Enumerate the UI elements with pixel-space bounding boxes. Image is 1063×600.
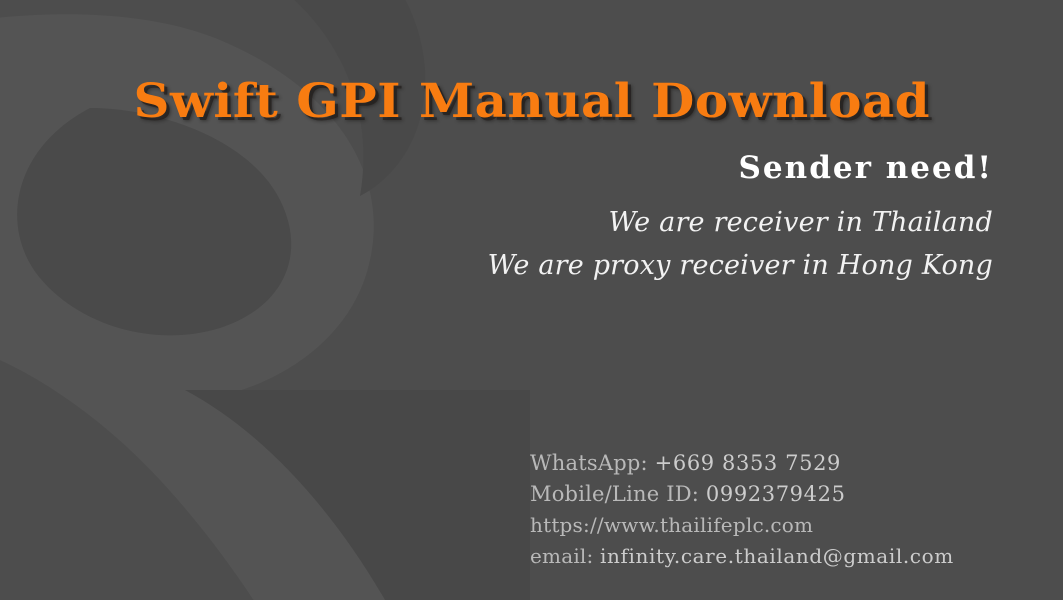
- subtitle: Sender need!: [273, 152, 993, 185]
- contact-line-website[interactable]: https://www.thailifeplc.com: [530, 510, 954, 541]
- whatsapp-number[interactable]: +669 8353 7529: [655, 451, 841, 475]
- mobile-line-id-label: Mobile/Line ID:: [530, 482, 699, 506]
- contact-block: WhatsApp: +669 8353 7529 Mobile/Line ID:…: [530, 448, 954, 572]
- page-title: Swift GPI Manual Download: [133, 78, 930, 125]
- watermark-leg-shape: [185, 390, 530, 600]
- script-lines: We are receiver in Thailand We are proxy…: [273, 201, 993, 287]
- watermark-counter-shape: [17, 108, 291, 335]
- headline-block: Sender need! We are receiver in Thailand…: [273, 152, 993, 287]
- contact-line-mobile-line-id: Mobile/Line ID: 0992379425: [530, 479, 954, 510]
- email-address[interactable]: infinity.care.thailand@gmail.com: [600, 544, 954, 568]
- whatsapp-label: WhatsApp:: [530, 451, 648, 475]
- website-url[interactable]: https://www.thailifeplc.com: [530, 513, 813, 537]
- script-line-proxy-hongkong: We are proxy receiver in Hong Kong: [273, 244, 993, 287]
- script-line-receiver-thailand: We are receiver in Thailand: [273, 201, 993, 244]
- contact-line-email: email: infinity.care.thailand@gmail.com: [530, 541, 954, 572]
- title-row: Swift GPI Manual Download: [0, 78, 1063, 125]
- contact-line-whatsapp: WhatsApp: +669 8353 7529: [530, 448, 954, 479]
- promo-slide: Swift GPI Manual Download Sender need! W…: [0, 0, 1063, 600]
- mobile-line-id-number[interactable]: 0992379425: [706, 482, 846, 506]
- email-label: email:: [530, 544, 593, 568]
